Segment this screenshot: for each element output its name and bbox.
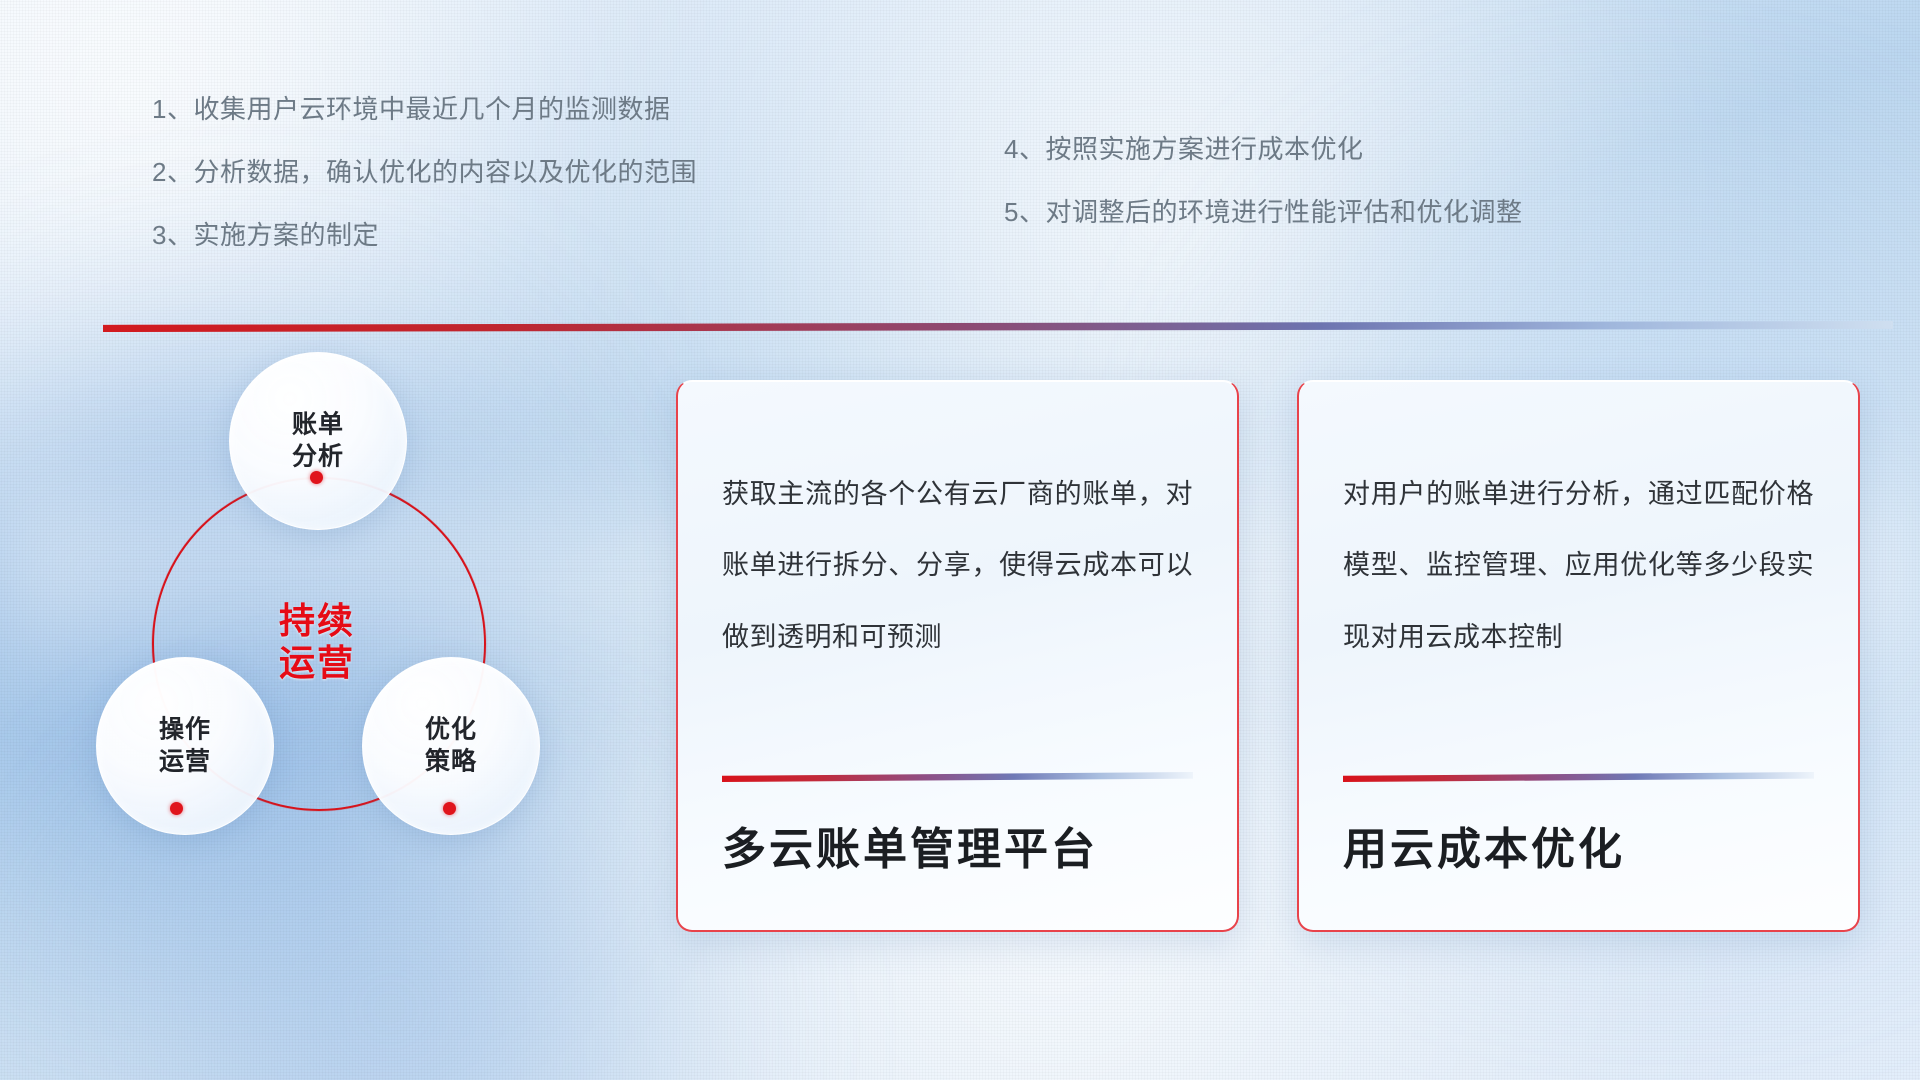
node-label-line2: 策略	[425, 747, 477, 775]
diagram-connector-dot-top	[310, 471, 323, 484]
card-description: 获取主流的各个公有云厂商的账单，对账单进行拆分、分享，使得云成本可以做到透明和可…	[722, 459, 1193, 673]
diagram-node-label: 操作运营	[97, 715, 273, 778]
node-label-line2: 运营	[159, 747, 211, 775]
diagram-node-operations[interactable]: 操作运营	[96, 657, 274, 835]
diagram-node-bill-analysis[interactable]: 账单分析	[229, 352, 407, 530]
diagram-connector-dot-bottom-left	[170, 802, 183, 815]
diagram-center-label-line1: 持续	[279, 600, 355, 641]
continuous-operation-diagram: 持续运营 账单分析 操作运营 优化策略	[96, 352, 566, 852]
diagram-center-label-line2: 运营	[279, 642, 355, 683]
diagram-connector-dot-bottom-right	[443, 802, 456, 815]
card-divider	[722, 772, 1193, 782]
node-label-line1: 操作	[159, 716, 211, 744]
card-title: 用云成本优化	[1343, 828, 1814, 872]
card-divider	[1343, 772, 1814, 782]
diagram-node-label: 账单分析	[230, 410, 406, 473]
card-title: 多云账单管理平台	[722, 828, 1193, 872]
feature-card-multicloud-billing[interactable]: 获取主流的各个公有云厂商的账单，对账单进行拆分、分享，使得云成本可以做到透明和可…	[676, 380, 1239, 932]
step-item: 5、对调整后的环境进行性能评估和优化调整	[1004, 199, 1522, 225]
steps-column-right: 4、按照实施方案进行成本优化 5、对调整后的环境进行性能评估和优化调整	[1004, 136, 1522, 262]
step-item: 4、按照实施方案进行成本优化	[1004, 136, 1522, 162]
steps-column-left: 1、收集用户云环境中最近几个月的监测数据 2、分析数据，确认优化的内容以及优化的…	[152, 96, 697, 285]
feature-cards: 获取主流的各个公有云厂商的账单，对账单进行拆分、分享，使得云成本可以做到透明和可…	[676, 380, 1860, 932]
card-description: 对用户的账单进行分析，通过匹配价格模型、监控管理、应用优化等多少段实现对用云成本…	[1343, 459, 1814, 673]
node-label-line2: 分析	[292, 442, 344, 470]
feature-card-cloud-cost-optimization[interactable]: 对用户的账单进行分析，通过匹配价格模型、监控管理、应用优化等多少段实现对用云成本…	[1297, 380, 1860, 932]
diagram-center-label: 持续运营	[279, 600, 355, 685]
node-label-line1: 优化	[425, 716, 477, 744]
step-item: 3、实施方案的制定	[152, 222, 697, 248]
step-item: 1、收集用户云环境中最近几个月的监测数据	[152, 96, 697, 122]
node-label-line1: 账单	[292, 411, 344, 439]
step-item: 2、分析数据，确认优化的内容以及优化的范围	[152, 159, 697, 185]
diagram-node-label: 优化策略	[363, 715, 539, 778]
